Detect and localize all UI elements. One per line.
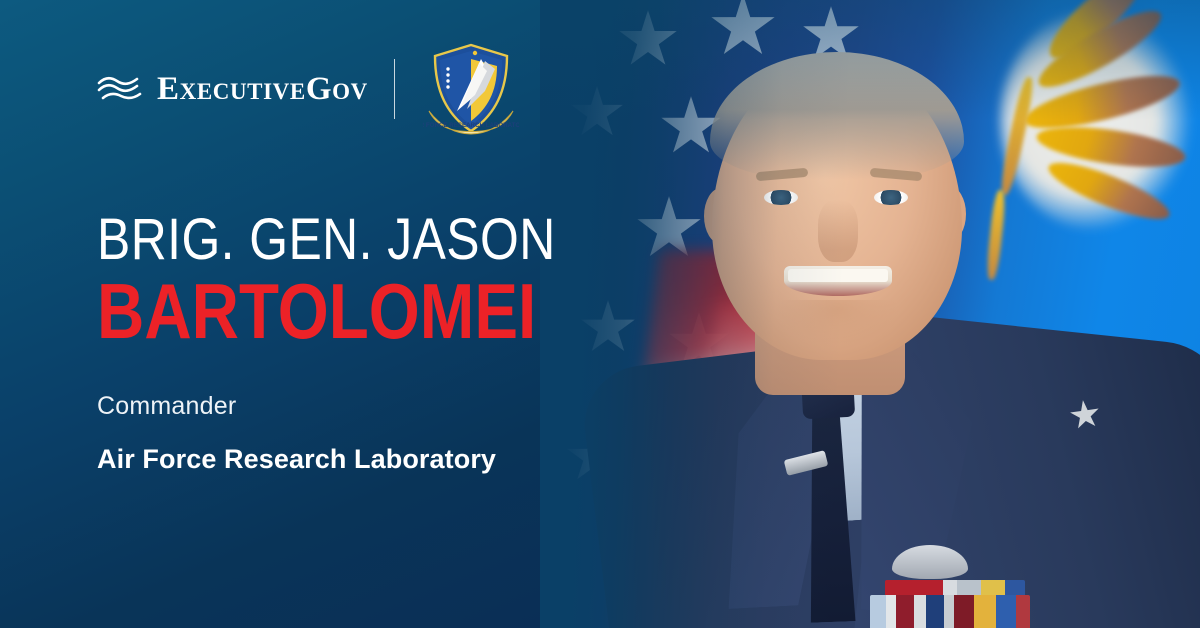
rank-and-first-name: BRIG. GEN. JASON xyxy=(97,212,556,269)
eye-left xyxy=(764,190,798,205)
executivegov-logo[interactable]: ExecutiveGov xyxy=(97,73,368,106)
nose xyxy=(818,200,858,262)
executivegov-wordmark: ExecutiveGov xyxy=(157,73,368,106)
chin xyxy=(776,300,900,348)
ribbon-rack xyxy=(870,595,1030,628)
seal-banner-text: AIR FORCE RESEARCH LABORATORY xyxy=(423,122,519,129)
eye-right xyxy=(874,190,908,205)
subject-figure xyxy=(540,0,1200,628)
vertical-divider xyxy=(394,59,396,119)
role-label: Commander xyxy=(97,392,236,421)
text-panel: ExecutiveGov AIR xyxy=(0,0,620,628)
surname: BARTOLOMEI xyxy=(97,275,545,348)
portrait-photo xyxy=(540,0,1200,628)
mouth xyxy=(784,266,892,296)
air-force-research-laboratory-seal: AIR FORCE RESEARCH LABORATORY xyxy=(423,39,519,139)
headline-block: BRIG. GEN. JASON BARTOLOMEI xyxy=(97,212,630,348)
brand-bar: ExecutiveGov AIR xyxy=(97,58,519,120)
organization-label: Air Force Research Laboratory xyxy=(97,444,496,475)
promo-card: ExecutiveGov AIR xyxy=(0,0,1200,628)
wave-lines-icon xyxy=(97,74,143,104)
hair xyxy=(710,52,964,180)
